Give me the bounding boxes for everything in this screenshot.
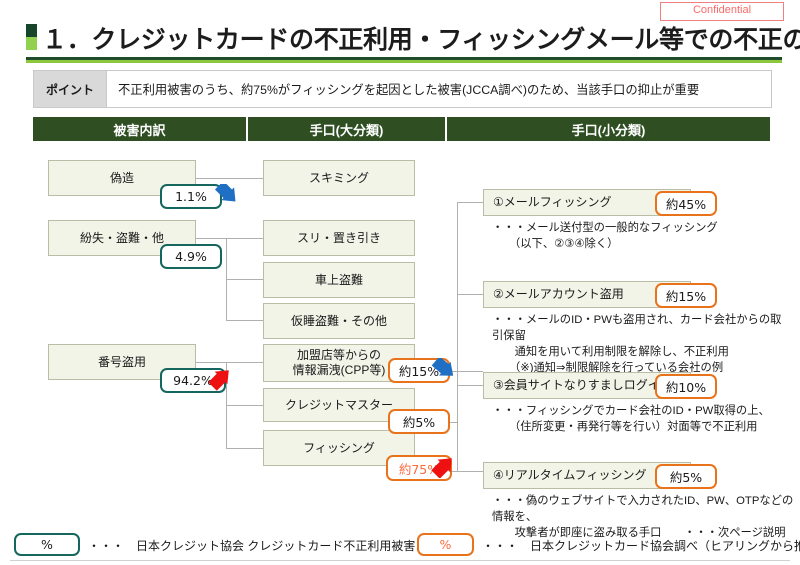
footer-legend-badge-orange: % [417,533,474,556]
connector-line [457,202,458,472]
connector-line [457,294,483,295]
connector-line [457,385,483,386]
confidential-badge: Confidential [660,2,784,21]
footer-legend-text-teal: ・・・ 日本クレジット協会 クレジットカード不正利用被害より引用 [88,537,463,554]
connector-line [196,238,226,239]
connector-line [226,279,263,280]
arrow-down-right-blue-icon [430,358,458,385]
method-major-box-1[interactable]: スリ・置き引き [263,220,415,256]
footer-legend-text-orange: ・・・ 日本クレジットカード協会調べ（ヒアリングから推計） [482,537,800,554]
method-minor-note-1: ・・・メールのID・PWも盗用され、カード会社からの取引保留 通知を用いて利用制… [492,312,792,376]
point-banner: ポイント 不正利用被害のうち、約75%がフィッシングを起因とした被害(JCCA調… [33,70,772,108]
method-minor-note-0: ・・・メール送付型の一般的なフィッシング （以下、②③④除く） [492,220,782,252]
connector-line [226,405,263,406]
title-rule-light [26,60,782,63]
title-marker-icon [26,24,37,50]
connector-line [226,448,263,449]
footer-legend-badge-teal: % [14,533,80,556]
slide-canvas: Confidential １．クレジットカードの不正利用・フィッシングメール等で… [0,0,800,565]
arrow-up-right-red-icon [430,450,458,478]
method-major-box-0[interactable]: スキミング [263,160,415,196]
method-minor-note-3: ・・・偽のウェブサイトで入力されたID、PW、OTPなどの情報を、 攻撃者が即座… [492,493,798,541]
point-text: 不正利用被害のうち、約75%がフィッシングを起因とした被害(JCCA調べ)のため… [107,71,771,107]
arrow-up-right-red-icon [207,363,235,391]
column-header-method-major: 手口(大分類) [248,117,447,141]
footer-divider [10,560,790,561]
connector-line [226,238,263,239]
title-marker-square-dark [26,24,37,37]
page-title: １．クレジットカードの不正利用・フィッシングメール等での不正の実態 [42,20,782,54]
column-header-damage-breakdown: 被害内訳 [33,117,248,141]
method-major-box-3[interactable]: 仮睡盗難・その他 [263,303,415,339]
method-major-pct-badge-5[interactable]: 約5% [388,409,450,434]
damage-pct-badge-1[interactable]: 4.9% [160,244,222,269]
method-minor-note-2: ・・・フィッシングでカード会社のID・PW取得の上、 （住所変更・再発行等を行い… [492,403,792,435]
method-major-box-2[interactable]: 車上盗難 [263,262,415,298]
method-minor-pct-badge-0[interactable]: 約45% [655,191,717,216]
connector-line [457,471,483,472]
title-marker-square-light [26,37,37,50]
method-minor-pct-badge-3[interactable]: 約5% [655,464,717,489]
arrow-down-right-blue-icon [212,184,242,212]
connector-line [196,178,263,179]
connector-line [457,202,483,203]
column-header-method-minor: 手口(小分類) [447,117,770,141]
method-minor-pct-badge-1[interactable]: 約15% [655,283,717,308]
connector-line [226,320,263,321]
method-minor-pct-badge-2[interactable]: 約10% [655,374,717,399]
point-label: ポイント [34,71,107,107]
